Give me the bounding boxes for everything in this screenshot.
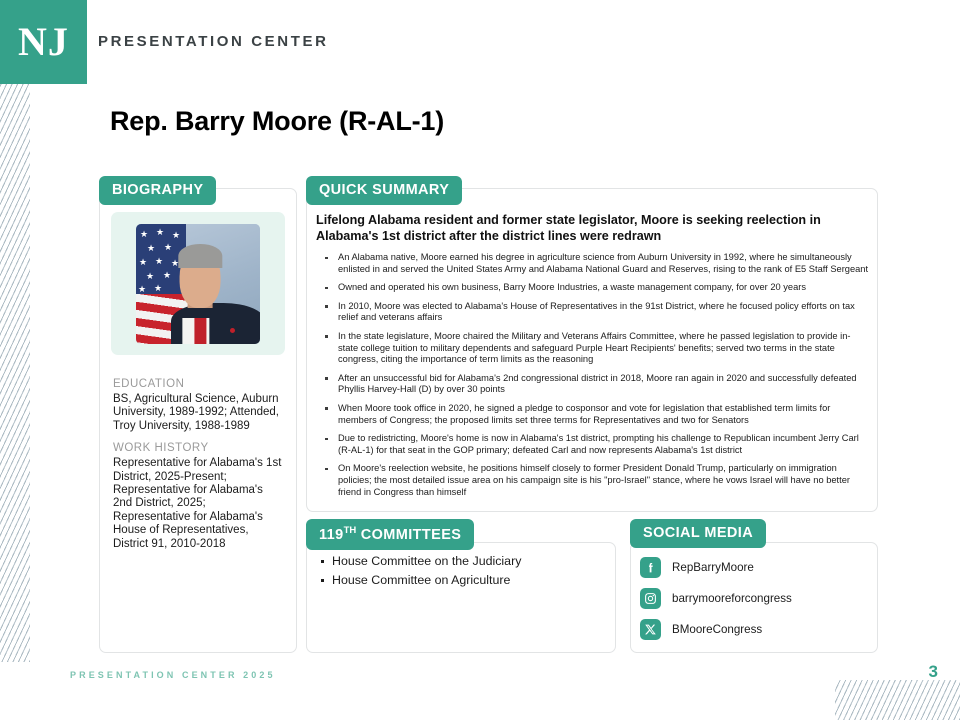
quick-summary-bullet: After an unsuccessful bid for Alabama's … xyxy=(318,373,870,396)
quick-summary-bullet: On Moore's reelection website, he positi… xyxy=(318,463,870,498)
social-media-handle[interactable]: RepBarryMoore xyxy=(672,561,754,574)
decorative-hatch-left xyxy=(0,84,30,662)
photo-tie xyxy=(195,318,206,344)
committees-list: House Committee on the JudiciaryHouse Co… xyxy=(318,552,606,590)
social-media-list: RepBarryMoorebarrymooreforcongressBMoore… xyxy=(640,552,870,645)
quick-summary-bullet: An Alabama native, Moore earned his degr… xyxy=(318,252,870,275)
biography-header: BIOGRAPHY xyxy=(99,176,216,205)
committees-ordinal-suffix: TH xyxy=(344,525,357,536)
brand-logo-block: NJ xyxy=(0,0,87,84)
decorative-hatch-bottom xyxy=(835,680,960,720)
facebook-icon[interactable] xyxy=(640,557,661,578)
quick-summary-lead: Lifelong Alabama resident and former sta… xyxy=(316,212,868,244)
footer-text: PRESENTATION CENTER 2025 xyxy=(70,670,276,680)
social-media-handle[interactable]: BMooreCongress xyxy=(672,623,762,636)
brand-logo-text: NJ xyxy=(18,22,69,62)
quick-summary-bullet: Due to redistricting, Moore's home is no… xyxy=(318,433,870,456)
portrait-photo-frame: ★ ★ ★ ★ ★ ★ ★ ★ ★ ★ ★ ★ xyxy=(111,212,285,355)
quick-summary-bullet: In the state legislature, Moore chaired … xyxy=(318,331,870,366)
work-history-text: Representative for Alabama's 1st Distric… xyxy=(113,457,285,551)
committee-list-item: House Committee on Agriculture xyxy=(318,571,606,590)
committees-header-rest: COMMITTEES xyxy=(361,527,462,543)
quick-summary-bullet: Owned and operated his own business, Bar… xyxy=(318,282,870,294)
x-twitter-icon[interactable] xyxy=(640,619,661,640)
social-media-row[interactable]: barrymooreforcongress xyxy=(640,583,870,614)
biography-body: EDUCATION BS, Agricultural Science, Aubu… xyxy=(113,378,285,560)
quick-summary-bullet-list: An Alabama native, Moore earned his degr… xyxy=(318,252,870,505)
portrait-photo: ★ ★ ★ ★ ★ ★ ★ ★ ★ ★ ★ ★ xyxy=(136,224,260,344)
page-number: 3 xyxy=(929,662,938,682)
instagram-icon[interactable] xyxy=(640,588,661,609)
page-title: Rep. Barry Moore (R-AL-1) xyxy=(110,106,444,137)
education-text: BS, Agricultural Science, Auburn Univers… xyxy=(113,393,285,433)
committee-list-item: House Committee on the Judiciary xyxy=(318,552,606,571)
education-label: EDUCATION xyxy=(113,378,285,390)
quick-summary-header: QUICK SUMMARY xyxy=(306,176,462,205)
brand-title: PRESENTATION CENTER xyxy=(98,33,329,50)
quick-summary-bullet: In 2010, Moore was elected to Alabama's … xyxy=(318,301,870,324)
social-media-handle[interactable]: barrymooreforcongress xyxy=(672,592,792,605)
photo-hair xyxy=(179,244,222,268)
committees-header: 119TH COMMITTEES xyxy=(306,519,474,550)
social-media-row[interactable]: BMooreCongress xyxy=(640,614,870,645)
social-media-row[interactable]: RepBarryMoore xyxy=(640,552,870,583)
social-media-header: SOCIAL MEDIA xyxy=(630,519,766,548)
work-history-label: WORK HISTORY xyxy=(113,442,285,454)
quick-summary-bullet: When Moore took office in 2020, he signe… xyxy=(318,403,870,426)
committees-congress-number: 119 xyxy=(319,527,344,543)
